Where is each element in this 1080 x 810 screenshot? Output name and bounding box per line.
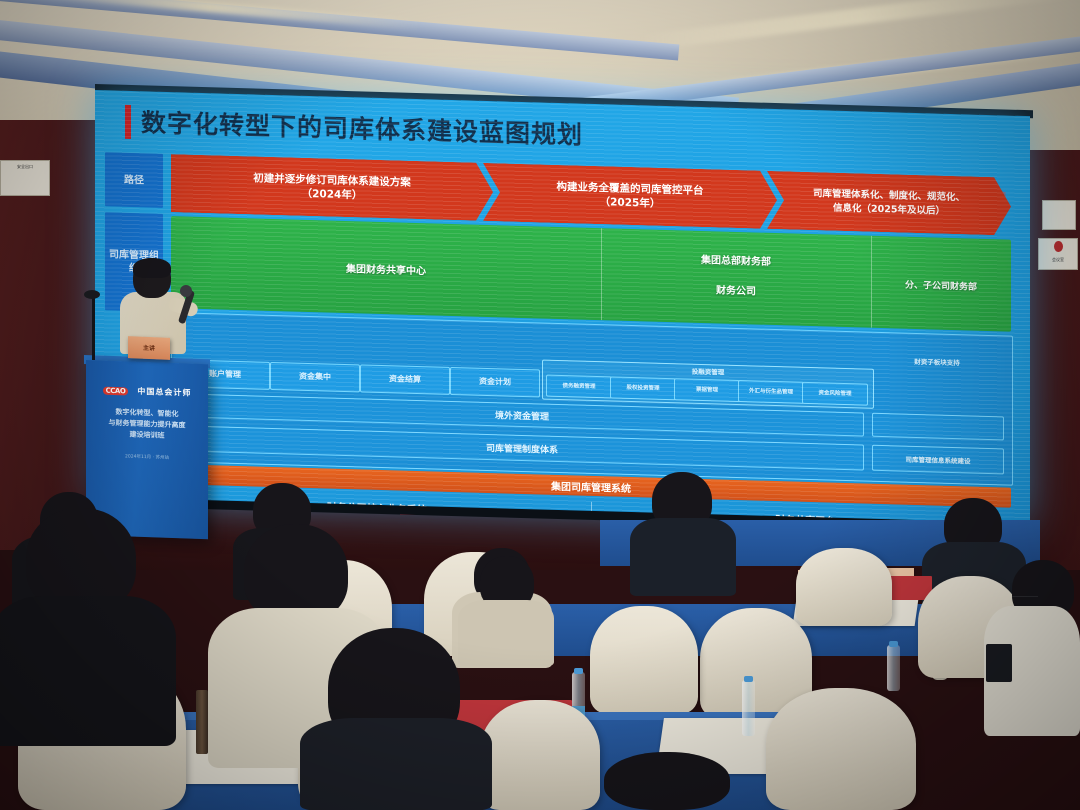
org-cell-hq-finance: 集团总部财务部 — [601, 242, 871, 276]
title-accent-bar — [125, 105, 131, 139]
chair-r2-4 — [590, 606, 698, 714]
podium-event-date: 2024年11月 · 苏州站 — [92, 452, 202, 462]
org-cell-subsidiary-finance: 分、子公司财务部 — [871, 266, 1011, 304]
roadmap-arrow-3: 司库管理体系化、制度化、规范化、 信息化（2025年及以后） — [767, 171, 1011, 236]
presentation-screen: 数字化转型下的司库体系建设蓝图规划 iSOFTSTONE 数字技术服务商 软通动… — [95, 90, 1030, 526]
roadmap-arrow-2-line2: （2025年） — [600, 195, 661, 211]
seal-icon — [1054, 241, 1063, 252]
podium-logo-mark: CCAO — [103, 387, 129, 396]
thermos-flask — [196, 690, 208, 754]
podium-logo: CCAO 中国总会计师 — [94, 377, 200, 400]
system-right-title: 财资子板块支持 — [872, 355, 1002, 369]
org-cell-finance-company: 财务公司 — [601, 272, 871, 306]
slide-content: 数字化转型下的司库体系建设蓝图规划 iSOFTSTONE 数字技术服务商 软通动… — [95, 90, 1030, 526]
eyeglasses-icon — [1012, 596, 1038, 600]
microphone-stand-head — [84, 290, 100, 299]
audience-torso-r3-2 — [630, 518, 736, 596]
audience-torso-r1-3 — [300, 718, 492, 810]
system-cell-risk-mgmt: 资金风险管理 — [802, 382, 868, 406]
system-cell-fx-derivatives: 外汇与衍生品管理 — [738, 380, 804, 404]
speaker-nameplate-text: 主讲 — [128, 336, 170, 353]
conference-room-photo: 安全出口 会议室 数字化转型下的司库体系建设蓝图规划 iSOFTSTONE 数字… — [0, 0, 1080, 810]
system-cell-equity-investment: 股权投资管理 — [610, 376, 676, 400]
speaker-fringe — [133, 258, 171, 278]
wall-sign-exit-text: 安全出口 — [1, 161, 49, 170]
roadmap-arrow-1-line2: （2024年） — [302, 187, 363, 203]
bottle-cap-front-3 — [744, 676, 753, 682]
roadmap-arrow-1: 初建并逐步修订司库体系建设方案 （2024年） — [171, 154, 493, 221]
system-cell-fund-pooling: 资金集中 — [270, 362, 360, 393]
system-cell-fund-plan: 资金计划 — [450, 367, 540, 398]
system-row-info-system: 司库管理信息系统建设 — [872, 445, 1004, 475]
audience-torso-r1-1 — [0, 596, 176, 746]
system-area: 账户管理 资金集中 资金结算 资金计划 投融资管理 债务融资管理 股权投资管理 … — [171, 312, 1013, 486]
slide-title: 数字化转型下的司库体系建设蓝图规划 — [141, 103, 583, 151]
microphone-head-icon — [180, 285, 192, 297]
chair-r1-4 — [480, 700, 600, 810]
chair-r2-6 — [796, 548, 892, 626]
water-bottle-middle-2 — [887, 645, 900, 691]
chair-r1-3 — [766, 688, 916, 810]
audience-torso-r1-5 — [458, 600, 554, 666]
org-band: 集团财务共享中心 集团总部财务部 财务公司 分、子公司财务部 — [171, 216, 1011, 332]
system-cell-settlement: 资金结算 — [360, 364, 450, 395]
roadmap-arrow-2: 构建业务全覆盖的司库管控平台 （2025年） — [483, 163, 777, 229]
system-cell-notes-mgmt: 票据管理 — [674, 378, 740, 402]
smartphone — [986, 644, 1012, 682]
speaker-nameplate: 主讲 — [128, 336, 170, 360]
wall-sign-notice-text: 会议室 — [1039, 254, 1077, 263]
wall-sign-upper — [1042, 200, 1076, 230]
microphone-stand — [92, 295, 95, 360]
bottle-cap-front-2 — [574, 668, 583, 674]
bottle-cap-middle-2 — [889, 641, 898, 647]
podium-org-name: 中国总会计师 — [137, 386, 191, 399]
system-row-overseas-right — [872, 413, 1004, 441]
row-label-path: 路径 — [105, 152, 163, 208]
water-bottle-front-3 — [742, 680, 755, 736]
org-cell-shared-center: 集团财务共享中心 — [171, 242, 601, 294]
podium-event-title: 数字化转型、智能化 与财务管理能力提升高度 建设培训班 — [92, 406, 202, 443]
audience-head-r1-4 — [604, 752, 730, 810]
system-cell-debt-financing: 债务融资管理 — [546, 375, 612, 399]
roadmap-arrow-3-line2: 信息化（2025年及以后） — [833, 202, 945, 219]
wall-sign-exit: 安全出口 — [0, 160, 50, 196]
wall-sign-notice: 会议室 — [1038, 238, 1078, 270]
